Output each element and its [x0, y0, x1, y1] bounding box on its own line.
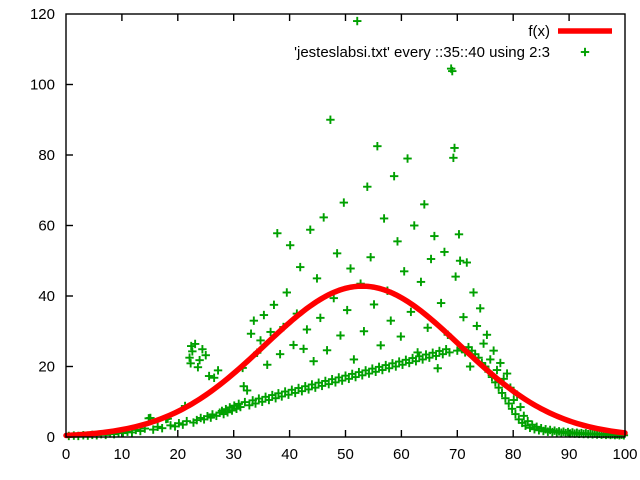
x-tick-label: 80: [505, 446, 522, 463]
x-tick-label: 90: [561, 446, 578, 463]
y-tick-label: 0: [47, 429, 55, 446]
x-tick-label: 70: [449, 446, 466, 463]
x-tick-label: 60: [393, 446, 410, 463]
legend-label-datafile: 'jesteslabsi.txt' every ::35::40 using 2…: [294, 44, 550, 61]
y-tick-label: 100: [30, 77, 55, 94]
y-tick-label: 20: [38, 359, 55, 376]
x-tick-label: 20: [169, 446, 186, 463]
x-tick-label: 50: [337, 446, 354, 463]
plot-canvas: 020406080100120 0102030405060708090100 f…: [0, 0, 640, 480]
x-tick-label: 30: [225, 446, 242, 463]
y-tick-label: 40: [38, 288, 55, 305]
y-tick-label: 60: [38, 218, 55, 235]
y-tick-label: 120: [30, 6, 55, 23]
x-tick-label: 100: [612, 446, 637, 463]
y-tick-label: 80: [38, 147, 55, 164]
x-tick-label: 0: [62, 446, 70, 463]
x-tick-label: 10: [114, 446, 131, 463]
legend-label-fx: f(x): [528, 23, 550, 40]
gnuplot-chart: 020406080100120 0102030405060708090100 f…: [0, 0, 640, 480]
x-tick-label: 40: [281, 446, 298, 463]
